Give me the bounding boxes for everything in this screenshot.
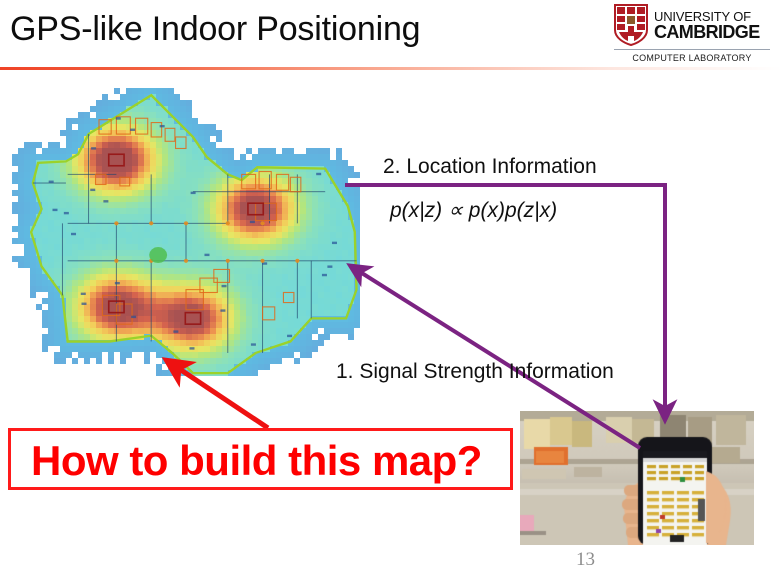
- bayes-formula: p(x|z) ∝ p(x)p(z|x): [390, 198, 557, 223]
- callout-text: How to build this map?: [31, 437, 482, 485]
- signal-strength-label: 1. Signal Strength Information: [336, 360, 614, 384]
- location-information-label: 2. Location Information: [383, 155, 597, 179]
- page-number: 13: [576, 549, 595, 571]
- signal-strength-arrow: [357, 270, 640, 448]
- callout-pointer-arrow: [175, 366, 268, 428]
- arrow-overlay: [0, 0, 782, 586]
- callout-box: How to build this map?: [8, 428, 513, 490]
